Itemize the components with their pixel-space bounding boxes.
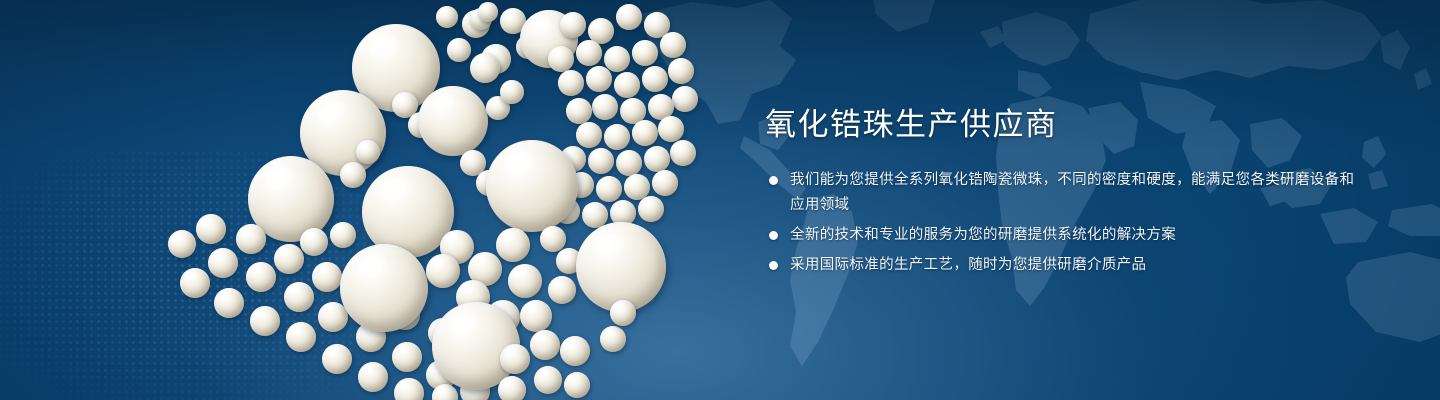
list-item-text: 我们能为您提供全系列氧化锆陶瓷微珠，不同的密度和硬度，能满足您各类研磨设备和应用… [790,172,1354,213]
list-item-text: 采用国际标准的生产工艺，随时为您提供研磨介质产品 [790,257,1146,273]
list-item: 我们能为您提供全系列氧化锆陶瓷微珠，不同的密度和硬度，能满足您各类研磨设备和应用… [765,168,1365,218]
list-item: 采用国际标准的生产工艺，随时为您提供研磨介质产品 [765,253,1365,278]
banner-content: 氧化锆珠生产供应商 我们能为您提供全系列氧化锆陶瓷微珠，不同的密度和硬度，能满足… [765,108,1365,278]
feature-list: 我们能为您提供全系列氧化锆陶瓷微珠，不同的密度和硬度，能满足您各类研磨设备和应用… [765,168,1365,278]
bullet-dot-icon [769,231,778,240]
list-item: 全新的技术和专业的服务为您的研磨提供系统化的解决方案 [765,223,1365,248]
hero-banner: 氧化锆珠生产供应商 我们能为您提供全系列氧化锆陶瓷微珠，不同的密度和硬度，能满足… [0,0,1440,400]
page-title: 氧化锆珠生产供应商 [765,108,1365,142]
list-item-text: 全新的技术和专业的服务为您的研磨提供系统化的解决方案 [790,227,1176,243]
bullet-dot-icon [769,261,778,270]
bullet-dot-icon [769,176,778,185]
